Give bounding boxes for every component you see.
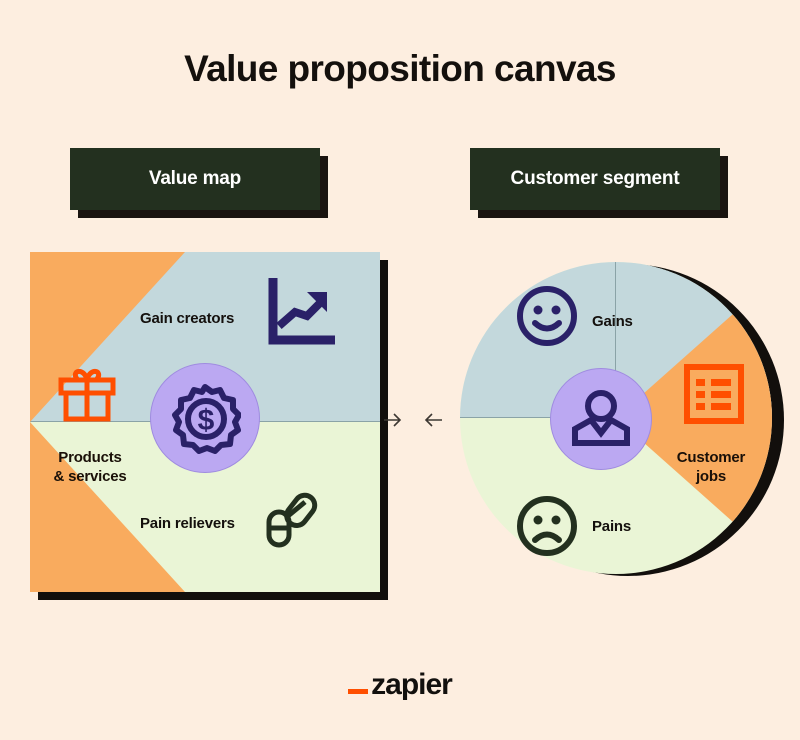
gift-icon (55, 363, 119, 432)
label-line-2: & services (40, 467, 140, 486)
logo-text: zapier (371, 668, 452, 702)
label-line-1: Customer (665, 448, 757, 467)
arrow-right-icon (383, 411, 405, 429)
logo-dash-icon (348, 689, 368, 694)
region-label-pains: Pains (592, 518, 631, 535)
region-label-gains: Gains (592, 313, 633, 330)
value-map-center-icon-circle: $ (150, 363, 260, 473)
gear-dollar-icon: $ (169, 382, 241, 454)
smiley-face-icon (516, 285, 578, 352)
customer-segment-center-icon-circle (550, 368, 652, 470)
label-line-1: Products (40, 448, 140, 467)
growth-chart-icon (265, 278, 335, 353)
region-label-products-services: Products & services (40, 448, 140, 486)
region-label-customer-jobs: Customer jobs (665, 448, 757, 486)
person-icon (569, 387, 633, 451)
region-label-pain-relievers: Pain relievers (140, 515, 235, 532)
section-header-customer-segment: Customer segment (470, 148, 720, 210)
connector-arrows (383, 405, 443, 435)
svg-text:$: $ (198, 404, 215, 437)
header-box: Customer segment (470, 148, 720, 210)
header-box: Value map (70, 148, 320, 210)
pills-icon (266, 490, 324, 553)
sad-face-icon (516, 495, 578, 562)
section-header-label: Value map (149, 168, 241, 190)
section-header-label: Customer segment (511, 168, 680, 190)
region-label-gain-creators: Gain creators (140, 310, 234, 327)
arrow-left-icon (421, 411, 443, 429)
page-title: Value proposition canvas (0, 48, 800, 90)
section-header-value-map: Value map (70, 148, 320, 210)
checklist-icon (683, 363, 745, 430)
label-line-2: jobs (665, 467, 757, 486)
zapier-logo: zapier (0, 668, 800, 702)
